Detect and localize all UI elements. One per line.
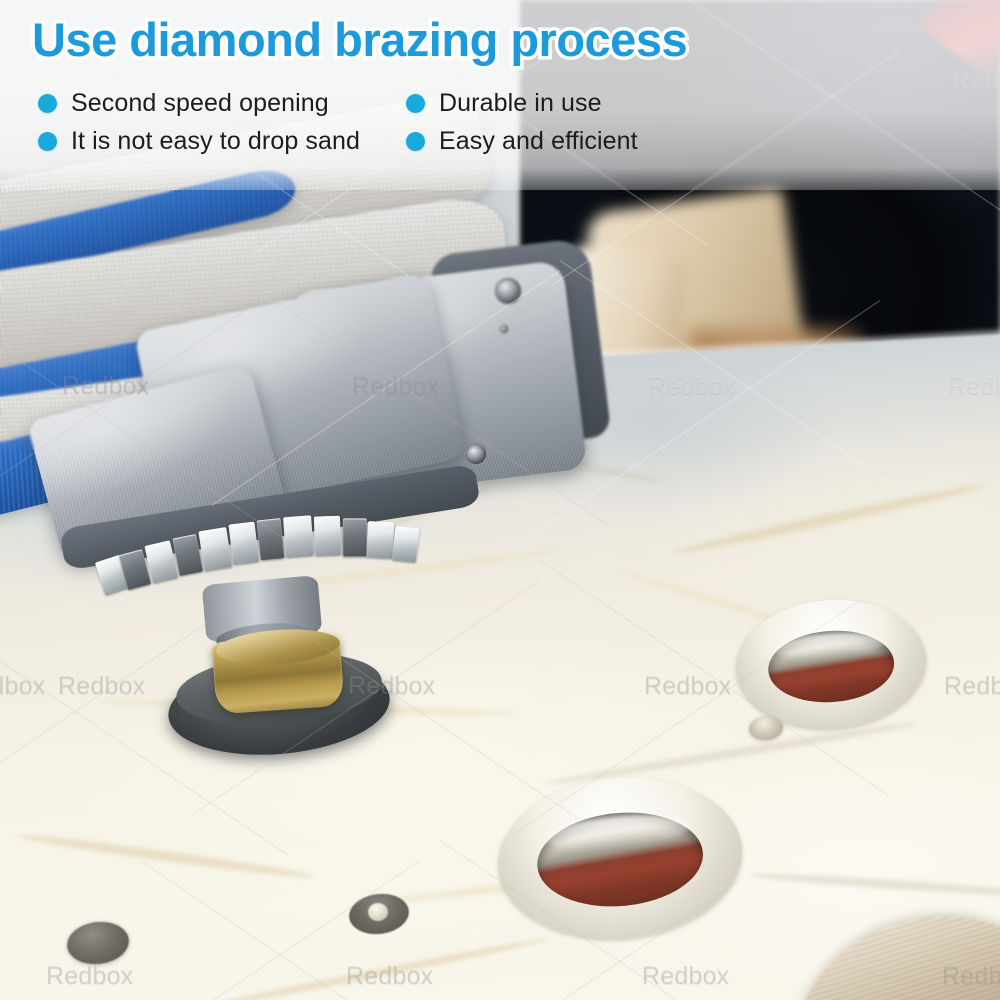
page-title: Use diamond brazing process (32, 12, 687, 67)
product-feature-image: Redbox Redbox Redbox Redbox Redbox Redbo… (0, 0, 1000, 1000)
tool-screw-small (500, 325, 508, 333)
feature-item: Durable in use (406, 84, 638, 122)
feature-label: Easy and efficient (439, 127, 638, 156)
bullet-dot-icon (406, 94, 425, 113)
bullet-dot-icon (38, 94, 57, 113)
feature-label: Second speed opening (71, 89, 329, 118)
bullet-dot-icon (406, 132, 425, 151)
bullet-dot-icon (38, 132, 57, 151)
pilot-hole-c-core (368, 903, 388, 921)
feature-item: It is not easy to drop sand (38, 122, 360, 160)
header-banner: Use diamond brazing process Second speed… (0, 0, 1000, 190)
feature-column-right: Durable in use Easy and efficient (406, 84, 638, 160)
feature-item: Easy and efficient (406, 122, 638, 160)
tool-screw-lower (466, 444, 486, 464)
feature-column-left: Second speed opening It is not easy to d… (38, 84, 360, 160)
tool-screw-upper (495, 278, 521, 304)
feature-item: Second speed opening (38, 84, 360, 122)
feature-list: Second speed opening It is not easy to d… (0, 84, 1000, 174)
feature-label: Durable in use (439, 89, 602, 118)
feature-label: It is not easy to drop sand (71, 127, 360, 156)
